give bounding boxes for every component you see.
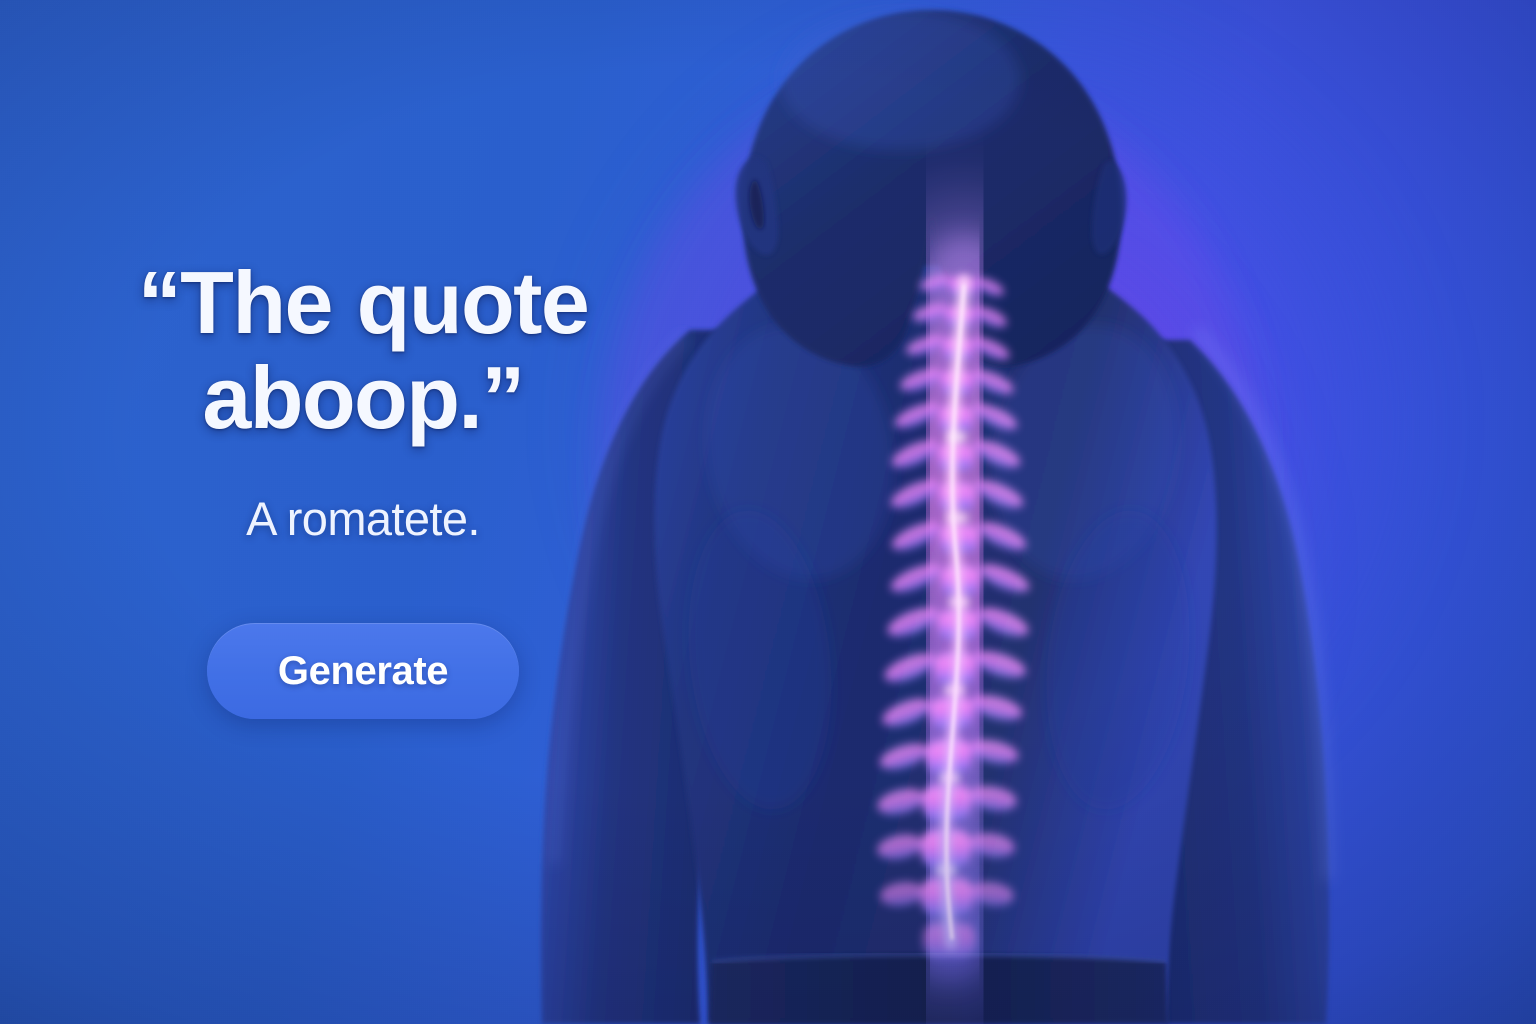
headline-line-2: aboop.” [202, 348, 523, 447]
page-title: “The quoteaboop.” [108, 255, 618, 445]
cta-container: Generate [108, 623, 618, 719]
hero-content: “The quoteaboop.” A romatete. Generate [108, 255, 618, 719]
hero-banner: “The quoteaboop.” A romatete. Generate [0, 0, 1536, 1024]
headline-line-1: “The quote [138, 253, 588, 352]
hero-subtitle: A romatete. [108, 491, 618, 547]
generate-button[interactable]: Generate [207, 623, 519, 719]
